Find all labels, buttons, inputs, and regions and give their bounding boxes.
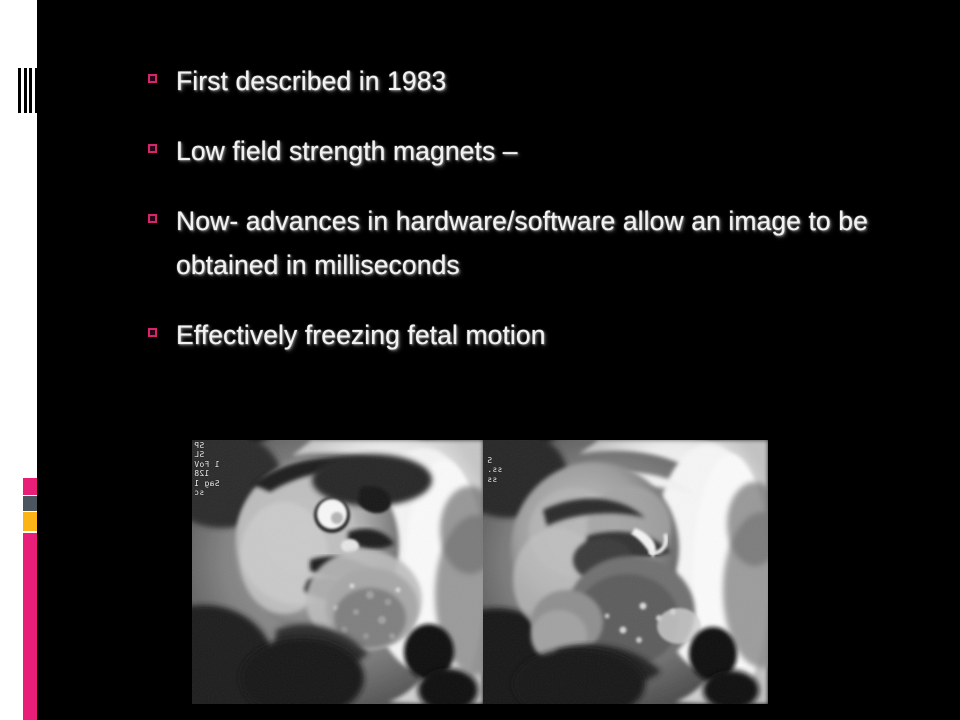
fetal-mri-sagittal-right: S ss. ss [483,440,768,704]
left-decorative-rail [0,0,37,720]
bullet-text: Effectively freezing fetal motion [176,314,938,358]
hollow-square-bullet-icon [148,144,157,153]
rail-stripe-1 [18,68,21,113]
rail-stripe-3 [29,68,32,113]
rail-block-pink-long [23,533,37,720]
rail-stripe-group [18,68,42,113]
bullet-text: Low field strength magnets – [176,130,938,174]
hollow-square-bullet-icon [148,328,157,337]
bullet-item: Now- advances in hardware/software allow… [148,200,938,288]
slide-canvas: First described in 1983 Low field streng… [0,0,960,720]
bullet-text: First described in 1983 [176,60,938,104]
mri-left-scanner-annotation: SP SL 1 FoV 128 Sag 1 sc [194,441,220,498]
rail-block-slate [23,496,37,511]
bullet-item: First described in 1983 [148,60,938,104]
rail-stripe-4 [35,68,40,113]
mri-right-scanner-annotation: S ss. ss [487,456,502,484]
fetal-mri-image-pair: SP SL 1 FoV 128 Sag 1 sc [192,440,768,704]
slide-body-content: First described in 1983 Low field streng… [148,56,938,384]
fetal-mri-right-graphic [483,440,768,704]
bullet-text: Now- advances in hardware/software allow… [176,200,938,288]
rail-block-pink-top [23,478,37,495]
fetal-mri-sagittal-left: SP SL 1 FoV 128 Sag 1 sc [192,440,483,704]
hollow-square-bullet-icon [148,74,157,83]
hollow-square-bullet-icon [148,214,157,223]
bullet-item: Effectively freezing fetal motion [148,314,938,358]
rail-stripe-2 [24,68,27,113]
fetal-mri-left-graphic [192,440,483,704]
rail-block-amber [23,512,37,531]
bullet-item: Low field strength magnets – [148,130,938,174]
